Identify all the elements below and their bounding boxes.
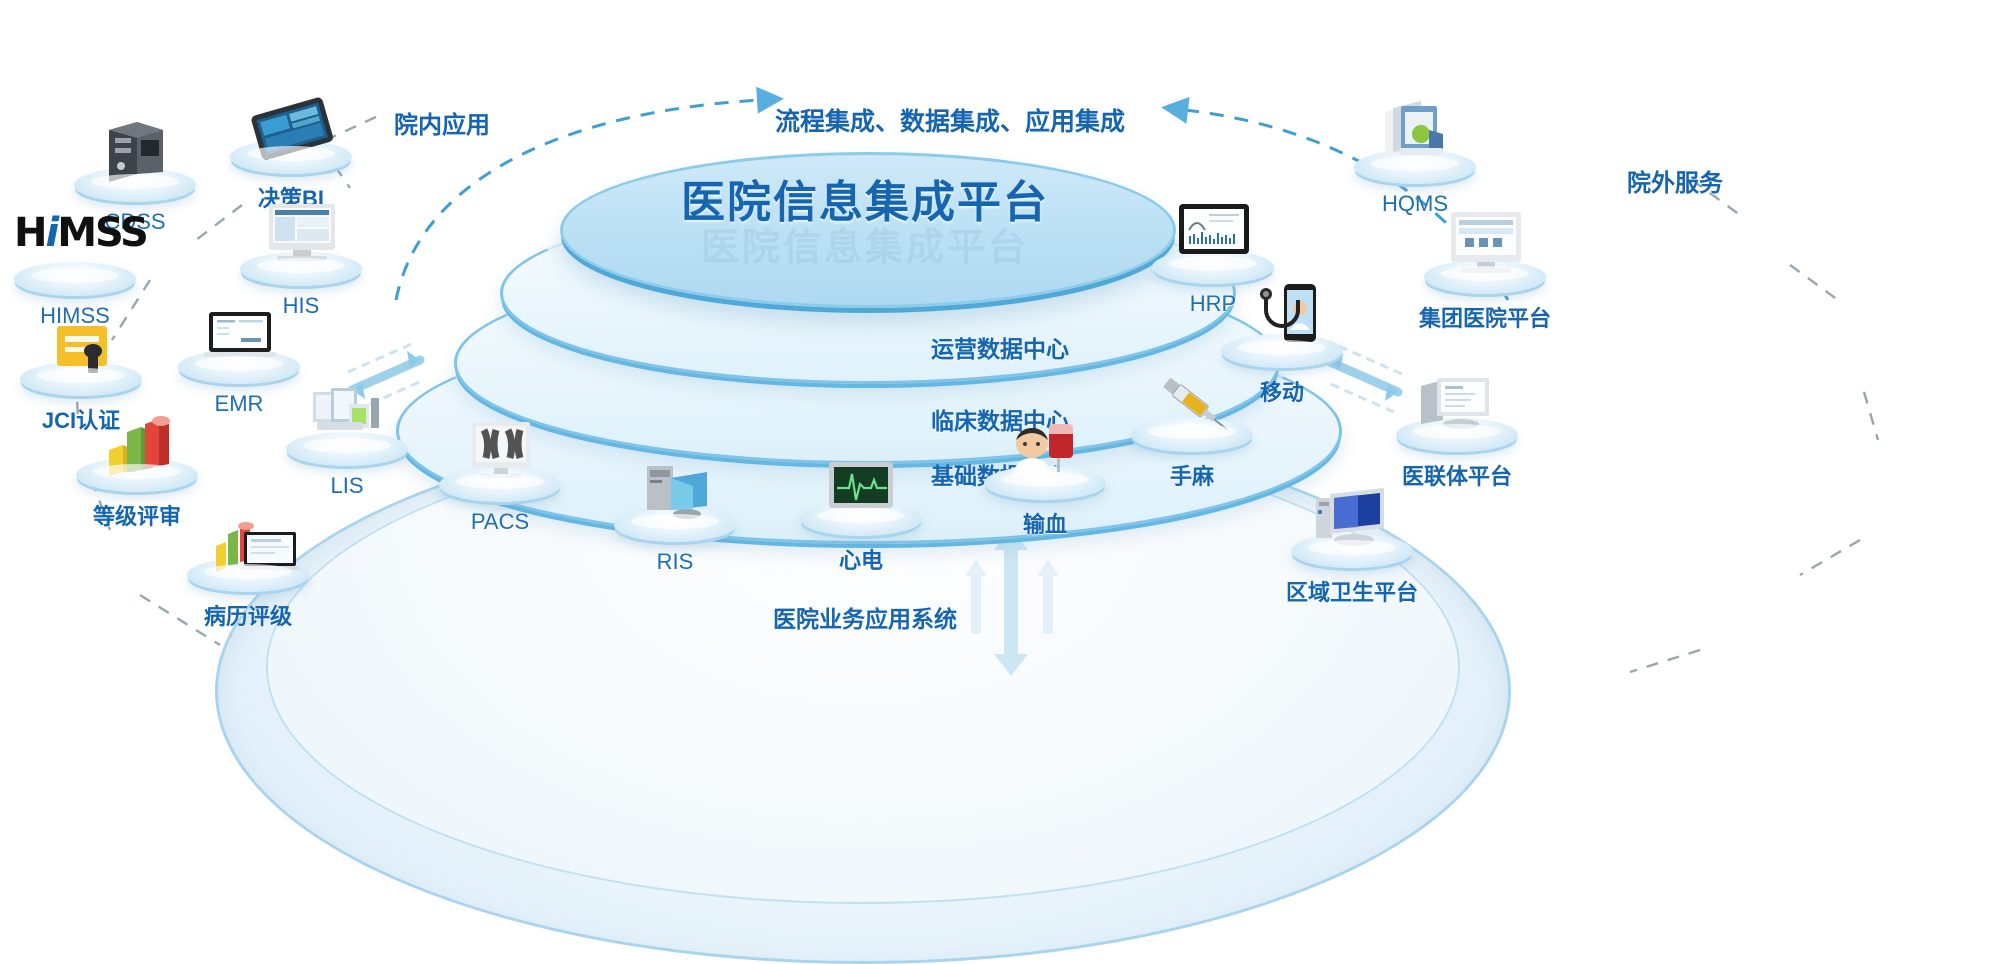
tablet-report-icon bbox=[1152, 194, 1274, 270]
link-regional-tail bbox=[1630, 650, 1700, 672]
pedestal bbox=[230, 140, 352, 174]
server-rack-icon bbox=[74, 112, 196, 188]
himss-logo-icon: HiMSS bbox=[14, 206, 136, 282]
business-systems-label: 医院业务应用系统 bbox=[640, 600, 1090, 634]
node-label: 集团医院平台 bbox=[1410, 301, 1560, 333]
desktop-monitor-icon bbox=[240, 196, 362, 272]
node-group-hospital[interactable]: 集团医院平台 bbox=[1410, 260, 1560, 333]
laptop-document-icon bbox=[178, 294, 300, 370]
heading-integration: 流程集成、数据集成、应用集成 bbox=[775, 102, 1125, 138]
pedestal bbox=[76, 458, 198, 492]
node-label: 移动 bbox=[1207, 375, 1357, 407]
lab-analyzer-icon bbox=[286, 376, 408, 452]
pedestal bbox=[74, 168, 196, 202]
pedestal bbox=[439, 468, 561, 502]
diagram-canvas: 医院信息集成平台 医院信息集成平台 运营数据中心 临床数据中心 基础数据中心 医… bbox=[0, 0, 2000, 955]
desktop-tower-icon bbox=[1291, 478, 1413, 554]
tablet-dashboard-icon bbox=[230, 84, 352, 160]
pedestal bbox=[984, 466, 1106, 500]
pedestal bbox=[286, 432, 408, 466]
node-label: RIS bbox=[600, 549, 750, 575]
node-label: PACS bbox=[425, 509, 575, 535]
node-pacs[interactable]: PACS bbox=[425, 468, 575, 535]
pedestal bbox=[1354, 150, 1476, 184]
pedestal bbox=[1131, 418, 1253, 452]
pedestal bbox=[187, 558, 309, 592]
pedestal bbox=[614, 508, 736, 542]
crt-monitor-icon bbox=[1424, 204, 1546, 280]
pedestal bbox=[1152, 250, 1274, 284]
link-alliance-regional bbox=[1800, 540, 1860, 575]
heading-out-hospital: 院外服务 bbox=[1627, 163, 1723, 198]
node-hrp[interactable]: HRP bbox=[1138, 250, 1288, 317]
pedestal bbox=[1291, 534, 1413, 568]
pedestal bbox=[20, 362, 142, 396]
node-label: HRP bbox=[1138, 291, 1288, 317]
node-transfusion[interactable]: 输血 bbox=[970, 466, 1120, 539]
platform-title: 医院信息集成平台 bbox=[560, 166, 1170, 230]
link-hqms-group bbox=[1790, 265, 1838, 300]
node-label: 病历评级 bbox=[173, 599, 323, 631]
node-label: LIS bbox=[272, 473, 422, 499]
pedestal bbox=[178, 350, 300, 384]
pedestal: HiMSS bbox=[14, 262, 136, 296]
pedestal bbox=[1424, 260, 1546, 294]
node-mobile[interactable]: 移动 bbox=[1207, 334, 1357, 407]
node-regional-health[interactable]: 区域卫生平台 bbox=[1277, 534, 1427, 607]
xray-monitor-icon bbox=[439, 412, 561, 488]
node-label: 心电 bbox=[786, 543, 936, 575]
pedestal bbox=[1396, 418, 1518, 452]
node-label: 手麻 bbox=[1117, 459, 1267, 491]
blood-bag-patient-icon bbox=[984, 410, 1106, 486]
flat-monitor-icon bbox=[1396, 362, 1518, 438]
pedestal bbox=[800, 502, 922, 536]
node-ris[interactable]: RIS bbox=[600, 508, 750, 575]
heading-in-hospital: 院内应用 bbox=[394, 105, 490, 140]
laptop-chart-icon bbox=[187, 502, 309, 578]
node-label: 区域卫生平台 bbox=[1277, 575, 1427, 607]
pedestal bbox=[1221, 334, 1343, 368]
ecg-monitor-icon bbox=[800, 446, 922, 522]
certificate-seal-icon bbox=[20, 306, 142, 382]
server-display-icon bbox=[614, 452, 736, 528]
node-ecg[interactable]: 心电 bbox=[786, 502, 936, 575]
document-folder-icon bbox=[1354, 94, 1476, 170]
node-anesthesia[interactable]: 手麻 bbox=[1117, 418, 1267, 491]
himss-wordmark: HiMSS bbox=[14, 210, 136, 256]
node-lis[interactable]: LIS bbox=[272, 432, 422, 499]
node-label: 输血 bbox=[970, 507, 1120, 539]
node-record-rating[interactable]: 病历评级 bbox=[173, 558, 323, 631]
pedestal bbox=[240, 252, 362, 286]
